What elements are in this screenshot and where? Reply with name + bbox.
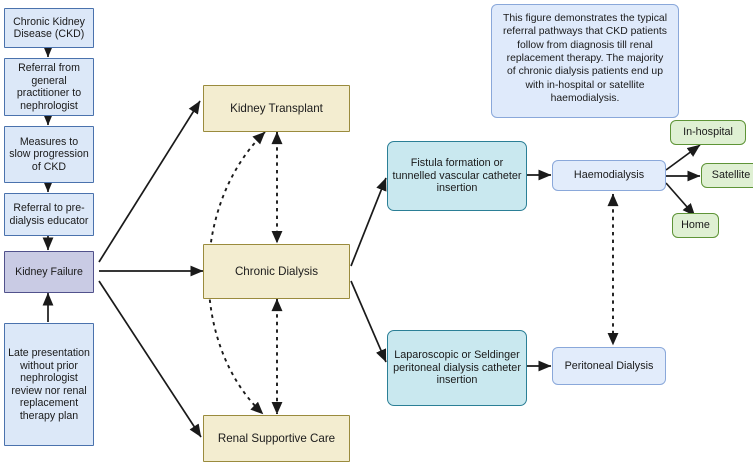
node-peritoneal-dialysis-label: Peritoneal Dialysis — [562, 360, 657, 373]
node-kidney-transplant[interactable]: Kidney Transplant — [203, 85, 350, 132]
node-referral-predialysis-educator[interactable]: Referral to pre-dialysis educator — [4, 193, 94, 236]
edge-kidney-failure-to-supportive-care — [99, 281, 201, 437]
node-in-hospital[interactable]: In-hospital — [670, 120, 746, 145]
flowchart-canvas: Chronic Kidney Disease (CKD) Referral fr… — [0, 0, 753, 465]
node-referral-educator-label: Referral to pre-dialysis educator — [5, 202, 93, 227]
node-ckd-label: Chronic Kidney Disease (CKD) — [5, 16, 93, 41]
node-chronic-dialysis-label: Chronic Dialysis — [232, 265, 321, 279]
figure-note-text: This figure demonstrates the typical ref… — [501, 12, 669, 105]
node-haemodialysis[interactable]: Haemodialysis — [552, 160, 666, 191]
edge-chronic-dialysis-to-vascular-access — [351, 178, 386, 266]
node-chronic-dialysis[interactable]: Chronic Dialysis — [203, 244, 350, 299]
node-pd-catheter-procedure[interactable]: Laparoscopic or Seldinger peritoneal dia… — [387, 330, 527, 406]
figure-note: This figure demonstrates the typical ref… — [491, 4, 679, 118]
node-renal-supportive-care[interactable]: Renal Supportive Care — [203, 415, 350, 462]
node-measures-slow-progression[interactable]: Measures to slow progression of CKD — [4, 126, 94, 183]
edge-kidney-failure-to-transplant — [99, 101, 200, 262]
node-kidney-failure-label: Kidney Failure — [12, 266, 86, 279]
node-late-presentation-label: Late presentation without prior nephrolo… — [5, 347, 93, 422]
node-referral-gp-label: Referral from general practitioner to ne… — [5, 62, 93, 112]
node-ckd[interactable]: Chronic Kidney Disease (CKD) — [4, 8, 94, 48]
node-kidney-transplant-label: Kidney Transplant — [227, 102, 326, 116]
node-measures-label: Measures to slow progression of CKD — [5, 136, 93, 174]
node-vascular-access-procedure[interactable]: Fistula formation or tunnelled vascular … — [387, 141, 527, 211]
node-kidney-failure[interactable]: Kidney Failure — [4, 251, 94, 293]
edge-haemodialysis-to-in-hospital — [666, 145, 700, 170]
node-pd-catheter-label: Laparoscopic or Seldinger peritoneal dia… — [388, 349, 526, 387]
edge-chronic-dialysis-to-pd-catheter — [351, 281, 386, 362]
edge-haemodialysis-to-home — [666, 183, 695, 216]
node-haemodialysis-label: Haemodialysis — [571, 169, 647, 182]
node-renal-supportive-care-label: Renal Supportive Care — [215, 432, 338, 446]
node-referral-gp[interactable]: Referral from general practitioner to ne… — [4, 58, 94, 116]
node-late-presentation[interactable]: Late presentation without prior nephrolo… — [4, 323, 94, 446]
node-in-hospital-label: In-hospital — [680, 126, 736, 139]
node-home[interactable]: Home — [672, 213, 719, 238]
node-home-label: Home — [678, 219, 713, 232]
node-satellite[interactable]: Satellite — [701, 163, 753, 188]
node-satellite-label: Satellite — [709, 169, 753, 182]
node-vascular-access-label: Fistula formation or tunnelled vascular … — [388, 157, 526, 195]
node-peritoneal-dialysis[interactable]: Peritoneal Dialysis — [552, 347, 666, 385]
